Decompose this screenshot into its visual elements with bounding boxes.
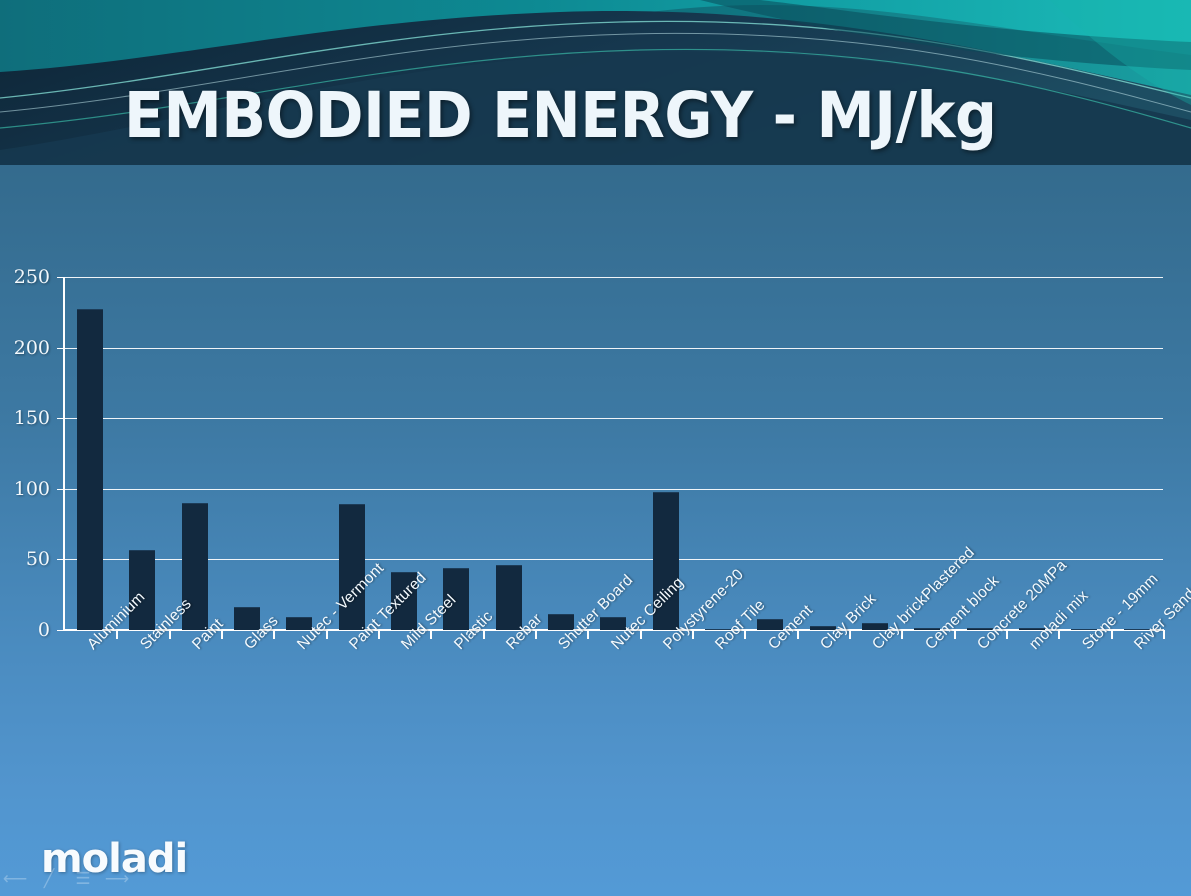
embodied-energy-bar-chart: 050100150200250 AluminiumStainlessPaintG…: [0, 0, 1191, 896]
menu-icon[interactable]: ☰: [73, 868, 93, 888]
bar-slot: [1058, 277, 1110, 630]
bar-slot: [430, 277, 482, 630]
bar-slot: [849, 277, 901, 630]
bar-slot: [221, 277, 273, 630]
y-axis-tick: [57, 277, 64, 278]
presentation-slide: EMBODIED ENERGY - MJ/kg 050100150200250 …: [0, 0, 1191, 896]
next-slide-icon[interactable]: ⟶: [107, 868, 127, 888]
bar-slot: [64, 277, 116, 630]
bar-slot: [483, 277, 535, 630]
y-axis-tick-label: 50: [0, 548, 50, 570]
bar-slot: [587, 277, 639, 630]
y-axis-tick: [57, 489, 64, 490]
chart-plot-area: [64, 277, 1163, 630]
y-axis-tick-label: 0: [0, 619, 50, 641]
chart-bar: [496, 565, 522, 630]
chart-bar: [77, 309, 103, 630]
pen-tool-icon[interactable]: ╱: [39, 868, 59, 888]
bar-slot: [535, 277, 587, 630]
y-axis-tick-label: 200: [0, 337, 50, 359]
previous-slide-icon[interactable]: ⟵: [5, 868, 25, 888]
y-axis-tick: [57, 348, 64, 349]
bar-slot: [169, 277, 221, 630]
slideshow-nav-bar[interactable]: ⟵ ╱ ☰ ⟶: [5, 868, 127, 888]
bar-slot: [116, 277, 168, 630]
y-axis-tick-label: 100: [0, 478, 50, 500]
bar-slot: [954, 277, 1006, 630]
y-axis-tick: [57, 630, 64, 631]
bar-slot: [640, 277, 692, 630]
y-axis-tick-label: 250: [0, 266, 50, 288]
y-axis-tick-label: 150: [0, 407, 50, 429]
y-axis-tick: [57, 559, 64, 560]
bar-slot: [273, 277, 325, 630]
y-axis-tick: [57, 418, 64, 419]
bar-slot: [797, 277, 849, 630]
bar-slot: [744, 277, 796, 630]
